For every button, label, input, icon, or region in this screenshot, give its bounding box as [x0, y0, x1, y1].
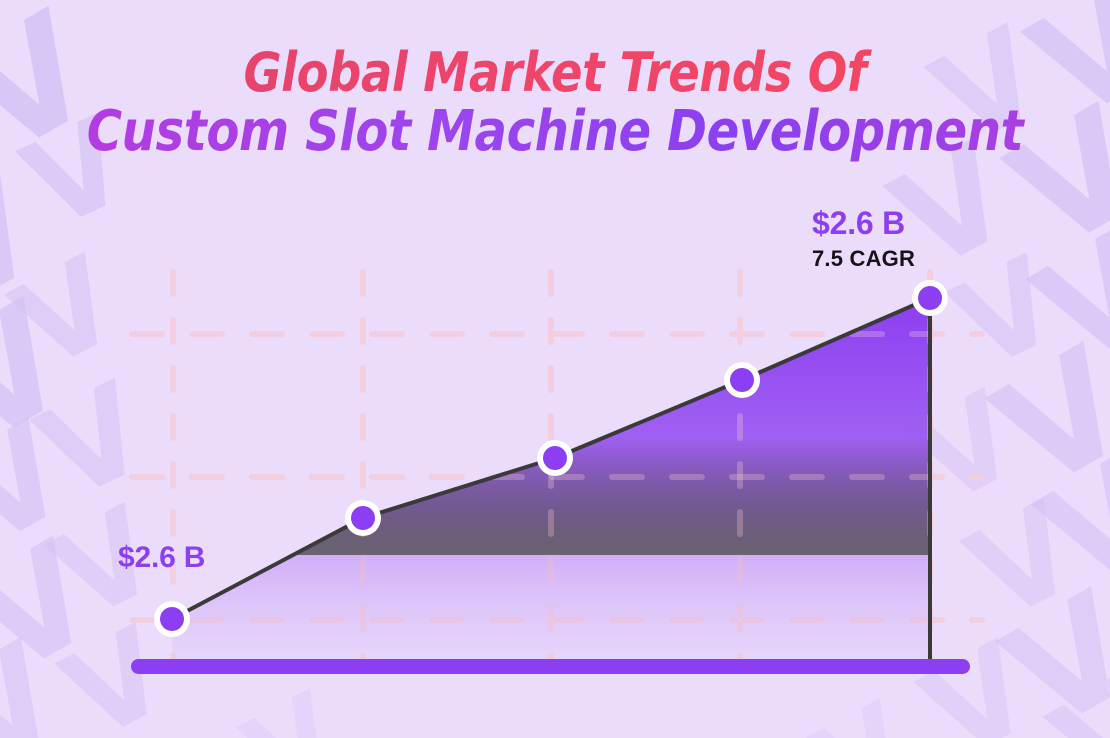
data-point-marker[interactable]: [537, 440, 573, 476]
chart-baseline-bar: [131, 659, 970, 674]
data-point-core: [351, 506, 375, 530]
data-point-marker[interactable]: [345, 500, 381, 536]
infographic-canvas: VVVVVVVVVVVVVVVVVVVVVVVVVV Global Market…: [0, 0, 1110, 738]
data-point-marker[interactable]: [154, 601, 190, 637]
data-point-core: [160, 607, 184, 631]
data-label-end-cagr: 7.5 CAGR: [812, 246, 915, 272]
data-point-marker[interactable]: [912, 280, 948, 316]
data-point-core: [918, 286, 942, 310]
area-chart: $2.6 B $2.6 B 7.5 CAGR: [0, 0, 1110, 738]
data-label-end-value: $2.6 B: [812, 205, 905, 242]
data-point-core: [543, 446, 567, 470]
chart-svg: [0, 0, 1110, 738]
data-point-core: [730, 368, 754, 392]
data-point-marker[interactable]: [724, 362, 760, 398]
data-label-start: $2.6 B: [118, 541, 205, 575]
